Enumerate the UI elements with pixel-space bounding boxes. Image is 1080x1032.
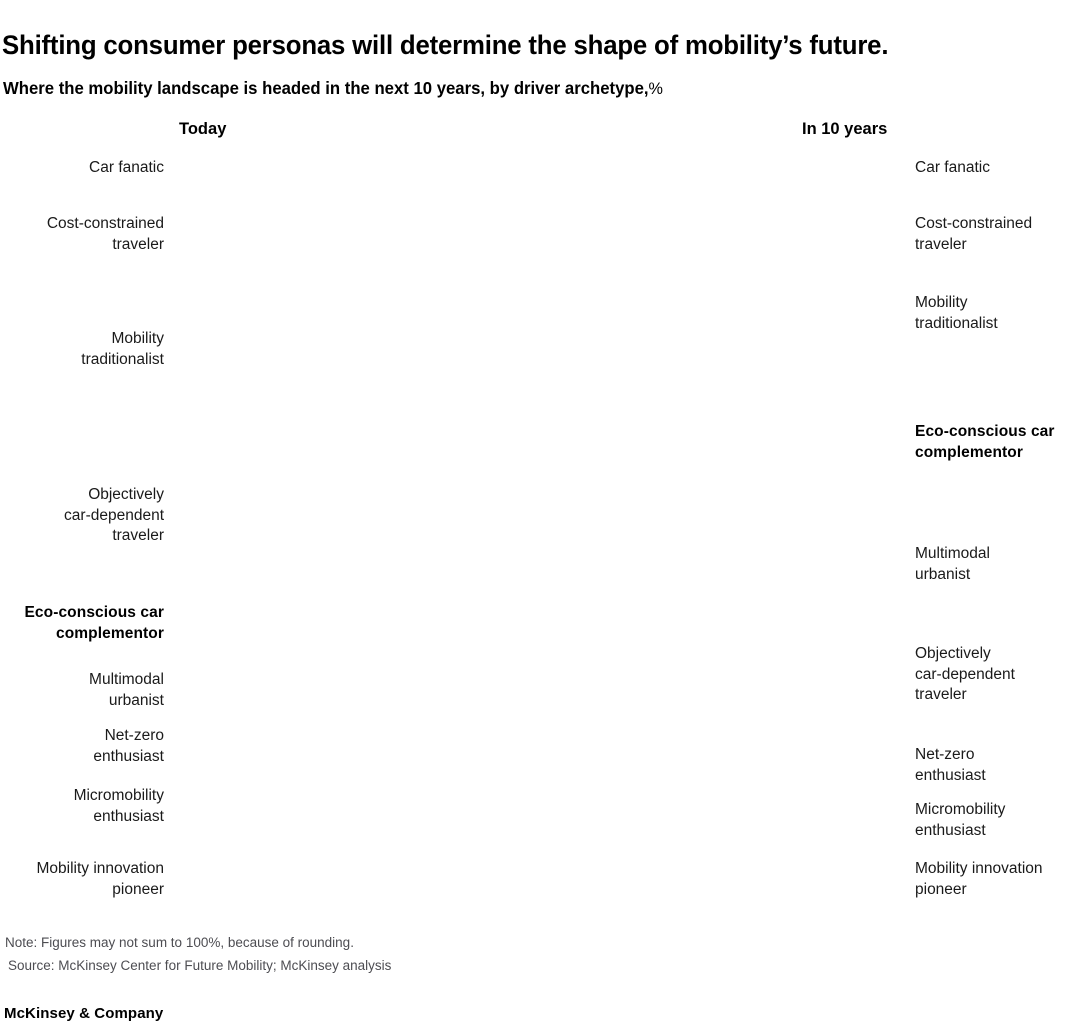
node-label-right-mobility-innovation-pioneer[interactable]: Mobility innovation pioneer	[915, 859, 1043, 900]
column-header-today: Today	[179, 120, 226, 139]
node-label-left-net-zero-enthusiast[interactable]: Net-zero enthusiast	[93, 726, 164, 767]
node-label-right-eco-conscious-car-complementor[interactable]: Eco-conscious car complementor	[915, 422, 1055, 463]
node-label-left-multimodal-urbanist[interactable]: Multimodal urbanist	[89, 670, 164, 711]
node-label-right-objectively-car-dependent-traveler[interactable]: Objectively car-dependent traveler	[915, 644, 1015, 706]
node-label-right-multimodal-urbanist[interactable]: Multimodal urbanist	[915, 544, 990, 585]
chart-subtitle-text: Where the mobility landscape is headed i…	[3, 78, 649, 98]
sankey-flow-canvas	[170, 148, 910, 908]
exhibit-root: Shifting consumer personas will determin…	[0, 0, 1080, 1032]
chart-note: Note: Figures may not sum to 100%, becau…	[5, 933, 354, 953]
page-title: Shifting consumer personas will determin…	[2, 29, 995, 61]
chart-source: Source: McKinsey Center for Future Mobil…	[8, 956, 391, 976]
chart-subtitle: Where the mobility landscape is headed i…	[3, 77, 663, 100]
chart-subtitle-unit: %	[649, 79, 663, 98]
sankey-ribbons	[170, 148, 910, 908]
node-label-left-micromobility-enthusiast[interactable]: Micromobility enthusiast	[74, 786, 164, 827]
column-header-in-10-years: In 10 years	[802, 120, 887, 139]
node-label-left-objectively-car-dependent-traveler[interactable]: Objectively car-dependent traveler	[64, 485, 164, 547]
node-label-left-mobility-innovation-pioneer[interactable]: Mobility innovation pioneer	[36, 859, 164, 900]
node-label-right-car-fanatic[interactable]: Car fanatic	[915, 158, 990, 179]
node-label-right-cost-constrained-traveler[interactable]: Cost-constrained traveler	[915, 214, 1032, 255]
node-label-right-micromobility-enthusiast[interactable]: Micromobility enthusiast	[915, 800, 1005, 841]
node-label-right-mobility-traditionalist[interactable]: Mobility traditionalist	[915, 293, 998, 334]
node-label-right-net-zero-enthusiast[interactable]: Net-zero enthusiast	[915, 745, 986, 786]
node-label-left-eco-conscious-car-complementor[interactable]: Eco-conscious car complementor	[24, 603, 164, 644]
node-label-left-mobility-traditionalist[interactable]: Mobility traditionalist	[81, 329, 164, 370]
brand-wordmark: McKinsey & Company	[4, 1005, 163, 1023]
node-label-left-car-fanatic[interactable]: Car fanatic	[89, 158, 164, 179]
node-label-left-cost-constrained-traveler[interactable]: Cost-constrained traveler	[47, 214, 164, 255]
